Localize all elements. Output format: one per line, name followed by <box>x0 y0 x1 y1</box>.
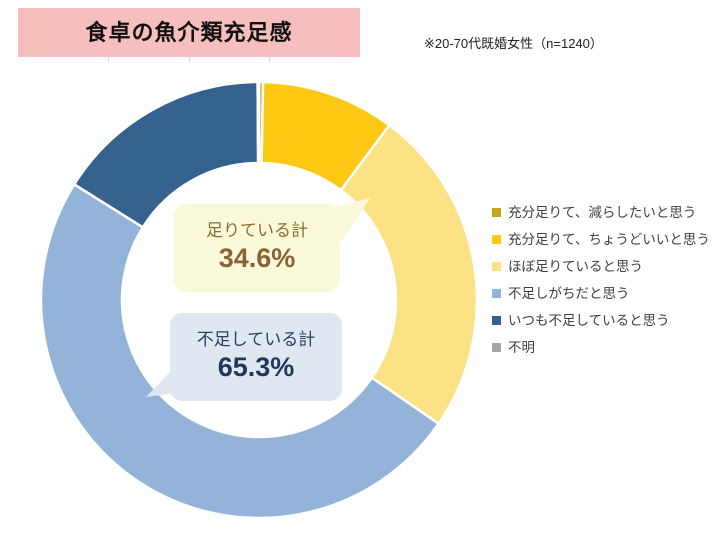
legend-item[interactable]: 不明 <box>492 334 707 361</box>
chart-page: 食卓の魚介類充足感 ※20-70代既婚女性（n=1240） 足りている計 34.… <box>0 0 716 541</box>
chart-legend: 充分足りて、減らしたいと思う充分足りて、ちょうどいいと思うほぼ足りていると思う不… <box>492 199 707 361</box>
callout-insufficient-value: 65.3% <box>218 353 295 383</box>
legend-item[interactable]: 充分足りて、減らしたいと思う <box>492 199 707 226</box>
legend-item[interactable]: 充分足りて、ちょうどいいと思う <box>492 226 707 253</box>
legend-swatch-icon <box>492 262 501 271</box>
legend-swatch-icon <box>492 343 501 352</box>
legend-item-label: いつも不足していると思う <box>508 314 670 328</box>
legend-swatch-icon <box>492 208 501 217</box>
donut-chart: 足りている計 34.6% 不足している計 65.3% <box>0 0 520 541</box>
legend-item-label: 不足しがちだと思う <box>508 287 630 301</box>
legend-item-label: ほぼ足りていると思う <box>508 260 643 274</box>
legend-swatch-icon <box>492 316 501 325</box>
legend-item-label: 不明 <box>508 341 535 355</box>
callout-insufficient-label: 不足している計 <box>197 331 316 350</box>
legend-swatch-icon <box>492 235 501 244</box>
donut-segment[interactable] <box>258 82 259 163</box>
legend-item-label: 充分足りて、ちょうどいいと思う <box>508 233 710 247</box>
callout-sufficient-total: 足りている計 34.6% <box>174 204 340 292</box>
callout-insufficient-total: 不足している計 65.3% <box>170 313 342 401</box>
legend-swatch-icon <box>492 289 501 298</box>
callout-sufficient-value: 34.6% <box>219 244 296 274</box>
callout-sufficient-label: 足りている計 <box>206 222 308 241</box>
donut-segments <box>41 82 477 518</box>
donut-segment[interactable] <box>341 125 477 423</box>
legend-item[interactable]: いつも不足していると思う <box>492 307 707 334</box>
legend-item[interactable]: ほぼ足りていると思う <box>492 253 707 280</box>
legend-item-label: 充分足りて、減らしたいと思う <box>508 206 696 220</box>
legend-item[interactable]: 不足しがちだと思う <box>492 280 707 307</box>
